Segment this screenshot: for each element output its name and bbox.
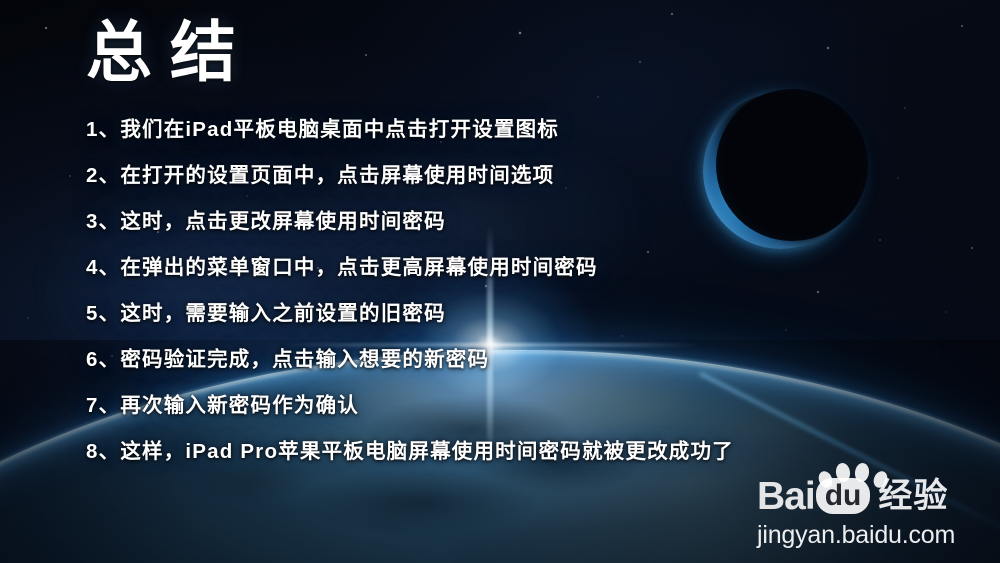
presentation-slide: 总结 1、 我们在iPad平板电脑桌面中点击打开设置图标 2、 在打开的设置页面… <box>0 0 1000 563</box>
list-item: 4、 在弹出的菜单窗口中，点击更高屏幕使用时间密码 <box>86 250 966 296</box>
step-number: 1、 <box>86 112 120 142</box>
list-item: 6、 密码验证完成，点击输入想要的新密码 <box>86 342 966 388</box>
step-number: 3、 <box>86 204 120 234</box>
baidu-logo-bai: Bai <box>757 477 815 516</box>
step-text: 这样，iPad Pro苹果平板电脑屏幕使用时间密码就被更改成功了 <box>120 434 734 464</box>
step-number: 6、 <box>86 342 120 372</box>
step-text: 这时，需要输入之前设置的旧密码 <box>120 296 446 326</box>
watermark-url: jingyan.baidu.com <box>757 522 995 550</box>
step-text: 再次输入新密码作为确认 <box>120 388 359 418</box>
step-text: 我们在iPad平板电脑桌面中点击打开设置图标 <box>120 112 559 142</box>
paw-toe-4 <box>871 469 889 490</box>
step-number: 8、 <box>86 434 120 464</box>
baidu-logo: Bai du 经验 <box>757 474 995 518</box>
list-item: 7、 再次输入新密码作为确认 <box>86 388 966 434</box>
list-item: 2、 在打开的设置页面中，点击屏幕使用时间选项 <box>86 158 966 204</box>
step-number: 4、 <box>86 250 120 280</box>
step-text: 在打开的设置页面中，点击屏幕使用时间选项 <box>120 158 554 188</box>
baidu-logo-du: du <box>816 478 871 514</box>
step-text: 在弹出的菜单窗口中，点击更高屏幕使用时间密码 <box>120 250 597 280</box>
step-number: 5、 <box>86 296 120 326</box>
slide-content: 总结 1、 我们在iPad平板电脑桌面中点击打开设置图标 2、 在打开的设置页面… <box>0 0 1000 563</box>
step-number: 7、 <box>86 388 120 418</box>
summary-step-list: 1、 我们在iPad平板电脑桌面中点击打开设置图标 2、 在打开的设置页面中，点… <box>86 112 966 480</box>
baidu-jingyan-watermark: Bai du 经验 jingyan.baidu.com <box>757 474 995 552</box>
list-item: 5、 这时，需要输入之前设置的旧密码 <box>86 296 966 342</box>
list-item: 3、 这时，点击更改屏幕使用时间密码 <box>86 204 966 250</box>
step-text: 这时，点击更改屏幕使用时间密码 <box>120 204 446 234</box>
step-number: 2、 <box>86 158 120 188</box>
page-title: 总结 <box>86 16 254 90</box>
step-text: 密码验证完成，点击输入想要的新密码 <box>120 342 489 372</box>
list-item: 1、 我们在iPad平板电脑桌面中点击打开设置图标 <box>86 112 966 158</box>
